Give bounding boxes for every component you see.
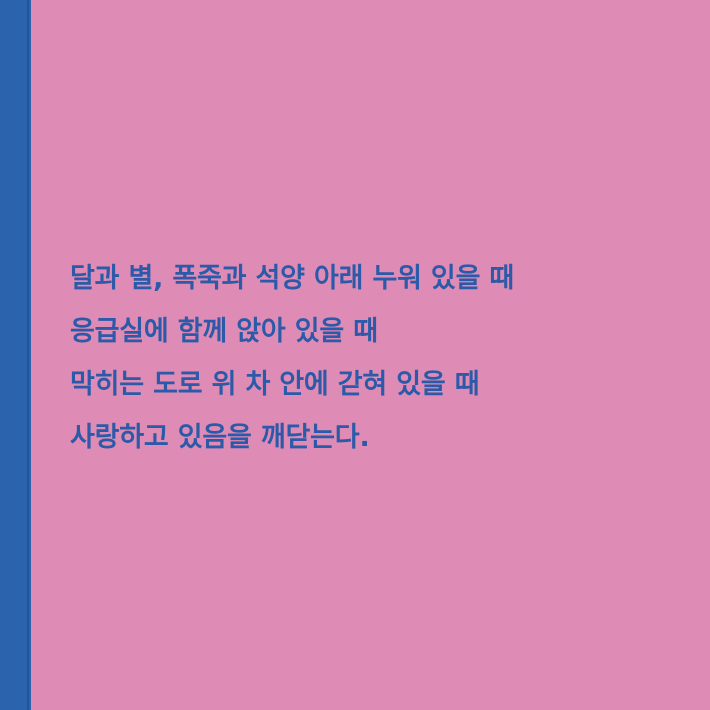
left-accent-bar-seam: [27, 0, 29, 710]
quote-text-block: 달과 별, 폭죽과 석양 아래 누워 있을 때 응급실에 함께 앉아 있을 때 …: [70, 252, 670, 464]
quote-line-3: 막히는 도로 위 차 안에 갇혀 있을 때: [70, 358, 670, 411]
left-accent-bar: [0, 0, 31, 710]
quote-card: 달과 별, 폭죽과 석양 아래 누워 있을 때 응급실에 함께 앉아 있을 때 …: [0, 0, 710, 710]
quote-line-1: 달과 별, 폭죽과 석양 아래 누워 있을 때: [70, 252, 670, 305]
quote-line-2: 응급실에 함께 앉아 있을 때: [70, 305, 670, 358]
quote-line-4: 사랑하고 있음을 깨닫는다.: [70, 411, 670, 464]
